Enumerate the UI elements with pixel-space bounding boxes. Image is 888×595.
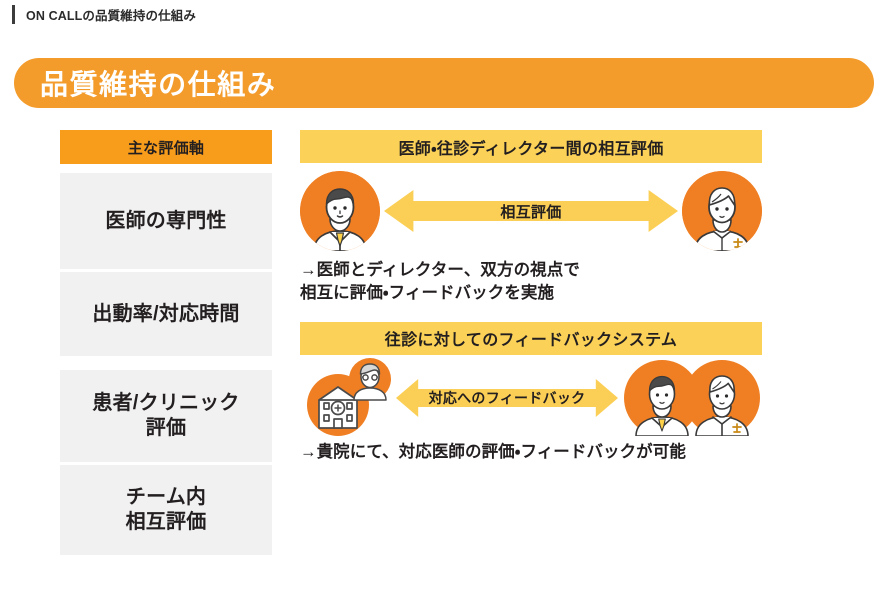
section-banner-label: 医師・往診ディレクター間の相互評価 xyxy=(398,135,663,159)
arrow-label: 対応へのフィードバック xyxy=(429,388,586,408)
breadcrumb-label: ON CALLの品質維持の仕組み xyxy=(26,5,196,24)
evaluation-axis-table: 主な評価軸 医師の専門性 出動率/対応時間 患者/クリニック 評価 チーム内 相… xyxy=(60,130,272,558)
axis-row-specialty: 医師の専門性 xyxy=(60,173,272,269)
axis-row-label: 医師の専門性 xyxy=(105,209,226,234)
axis-row-team-peer-review: チーム内 相互評価 xyxy=(60,465,272,555)
nurse-avatar-icon xyxy=(682,171,762,251)
clinic-building-icon xyxy=(300,357,392,439)
feedback-arrow: 対応へのフィードバック xyxy=(396,377,618,419)
section-feedback-system: 往診に対してのフィードバックシステム xyxy=(300,322,762,464)
axis-row-patient-clinic-rating: 患者/クリニック 評価 xyxy=(60,370,272,462)
section-banner-label: 往診に対してのフィードバックシステム xyxy=(385,326,677,350)
arrow-label: 相互評価 xyxy=(500,201,561,222)
axis-table-header-label: 主な評価軸 xyxy=(128,137,205,158)
axis-row-dispatch-rate: 出動率/対応時間 xyxy=(60,272,272,356)
mutual-evaluation-arrow: 相互評価 xyxy=(384,188,678,234)
doctor-nurse-pair-icon xyxy=(622,360,762,436)
section-banner: 往診に対してのフィードバックシステム xyxy=(300,322,762,355)
section-spacer xyxy=(300,306,762,322)
section-peer-review: 医師・往診ディレクター間の相互評価 xyxy=(300,130,762,306)
peer-review-caption: →医師とディレクター、双方の視点で 相互に評価・フィードバックを実施 xyxy=(300,259,762,306)
breadcrumb: ON CALLの品質維持の仕組み xyxy=(12,3,196,25)
axis-row-label: チーム内 相互評価 xyxy=(126,485,207,535)
breadcrumb-accent-bar xyxy=(12,5,15,24)
axis-row-label: 患者/クリニック 評価 xyxy=(92,391,239,441)
mechanism-sections: 医師・往診ディレクター間の相互評価 xyxy=(300,130,762,464)
axis-table-header: 主な評価軸 xyxy=(60,130,272,164)
page-title: 品質維持の仕組み xyxy=(40,63,276,103)
axis-row-label: 出動率/対応時間 xyxy=(92,302,239,327)
section-banner: 医師・往診ディレクター間の相互評価 xyxy=(300,130,762,163)
peer-review-illustration: 相互評価 xyxy=(300,163,762,259)
doctor-avatar-icon xyxy=(300,171,380,251)
feedback-illustration: 対応へのフィードバック xyxy=(300,355,762,441)
page-title-banner: 品質維持の仕組み xyxy=(14,58,874,108)
feedback-caption: →貴院にて、対応医師の評価・フィードバックが可能 xyxy=(300,441,762,464)
